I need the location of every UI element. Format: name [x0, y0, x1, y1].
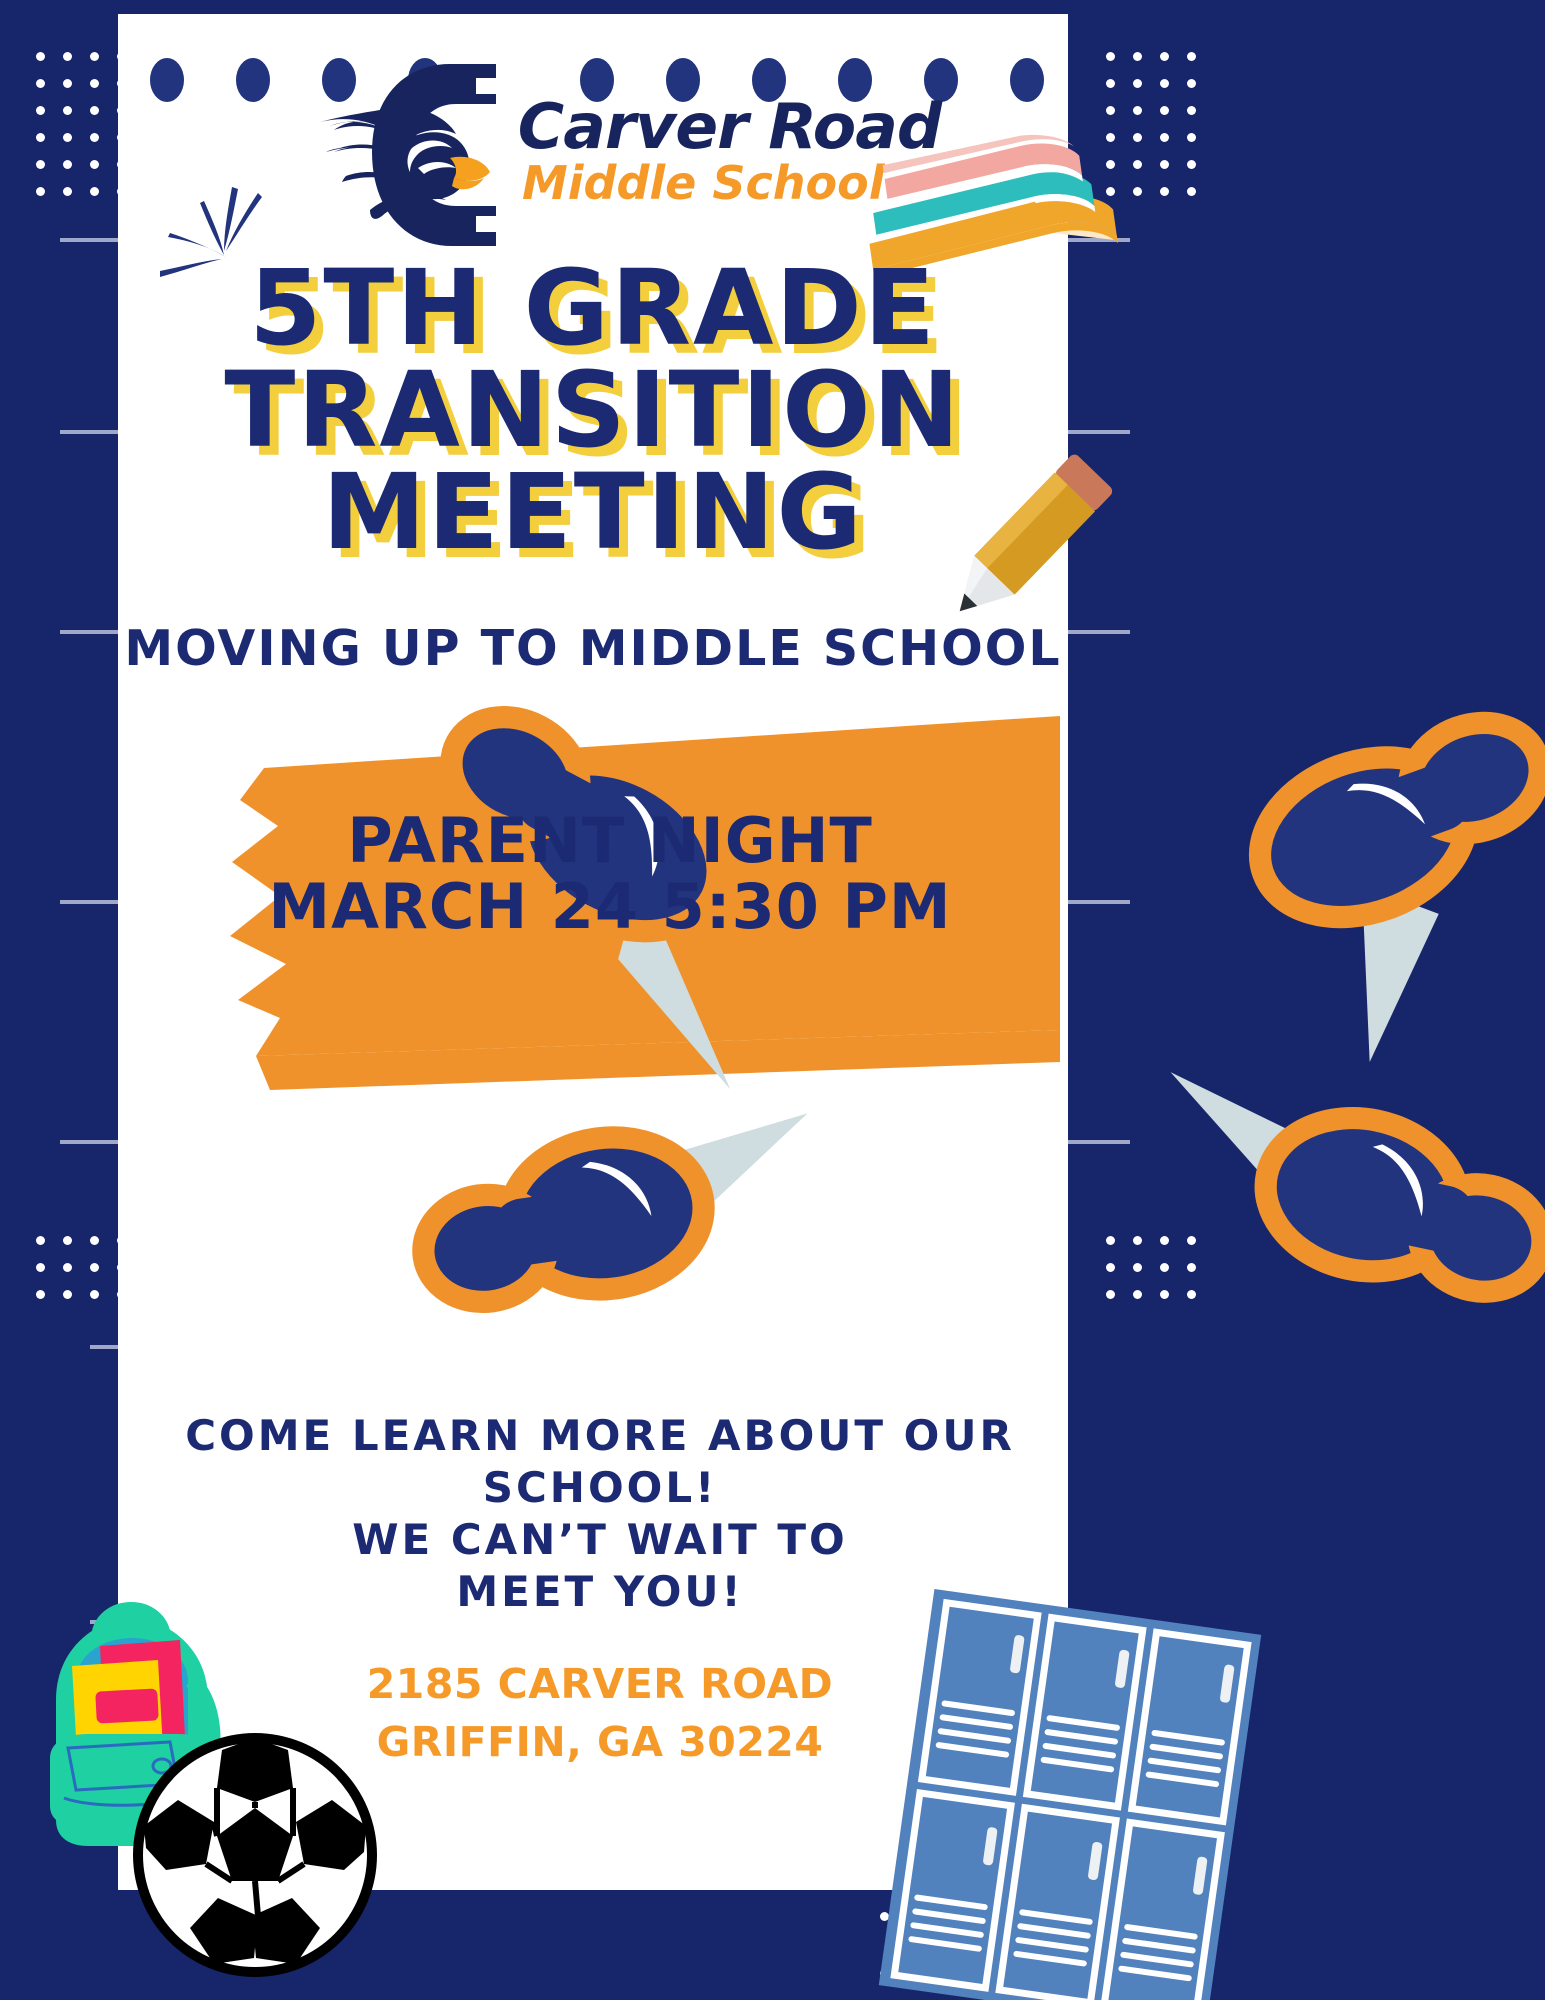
banner-line-1: PARENT NIGHT [160, 808, 1060, 874]
body-line-1: COME LEARN MORE ABOUT OUR [130, 1410, 1070, 1462]
dot-pattern-bottom-left [36, 1236, 126, 1299]
headline-line-1: 5TH GRADE [128, 258, 1058, 360]
body-line-2: SCHOOL! [130, 1462, 1070, 1514]
body-copy: COME LEARN MORE ABOUT OUR SCHOOL! WE CAN… [130, 1410, 1070, 1618]
banner-text: PARENT NIGHT MARCH 24 5:30 PM [160, 808, 1060, 941]
soccer-ball-icon [130, 1730, 380, 1980]
banner-line-2: MARCH 24 5:30 PM [160, 874, 1060, 940]
pushpin-icon-bottom-right [916, 1000, 1545, 1400]
body-line-3: WE CAN’T WAIT TO [130, 1514, 1070, 1566]
headline-line-2: TRANSITION [128, 360, 1058, 462]
page-title: 5TH GRADE TRANSITION MEETING [128, 258, 1058, 564]
event-banner: PARENT NIGHT MARCH 24 5:30 PM [160, 700, 1060, 1100]
flyer-background: Carver Road Middle School [0, 0, 1545, 2000]
eagle-mascot-icon [300, 60, 530, 250]
school-logo: Carver Road Middle School [300, 46, 940, 256]
dot-pattern-top-left [36, 52, 126, 196]
school-lockers-icon [905, 1610, 1235, 2000]
headline-line-3: MEETING [128, 462, 1058, 564]
